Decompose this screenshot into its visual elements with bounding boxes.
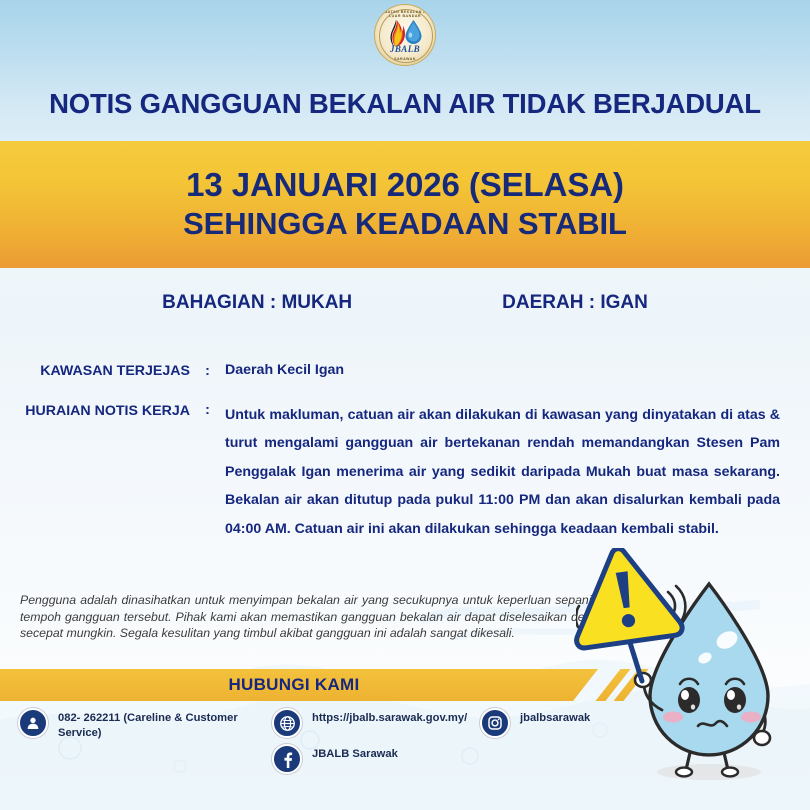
contact-website-text: https://jbalb.sarawak.gov.my/ [312, 708, 467, 726]
contact-facebook-text: JBALB Sarawak [312, 744, 398, 762]
notice-poster: JABATAN BEKALAN AIR LUAR BANDAR JBALB SA… [0, 0, 810, 810]
globe-icon [272, 708, 302, 738]
contact-phone-text: 082- 262211 (Careline & Customer Service… [58, 708, 248, 741]
disclaimer-text: Pengguna adalah dinasihatkan untuk menyi… [20, 592, 612, 642]
contact-phone[interactable]: 082- 262211 (Careline & Customer Service… [18, 708, 248, 741]
contact-banner-label: HUBUNGI KAMI [228, 675, 359, 695]
date-banner: 13 JANUARI 2026 (SELASA) SEHINGGA KEADAA… [0, 141, 810, 268]
work-notice-label: HURAIAN NOTIS KERJA [0, 401, 190, 419]
seal-arc-bottom-text: SARAWAK [375, 57, 435, 61]
instagram-icon [480, 708, 510, 738]
flame-icon [390, 20, 405, 47]
facebook-icon [272, 744, 302, 774]
facebook-glyph [279, 751, 296, 768]
work-notice-colon: : [190, 401, 225, 418]
bahagian-label: BAHAGIAN : MUKAH [162, 292, 352, 314]
seal-arc-top-text: JABATAN BEKALAN AIR LUAR BANDAR [375, 10, 435, 18]
jbalb-seal-icon: JABATAN BEKALAN AIR LUAR BANDAR JBALB SA… [374, 4, 436, 66]
contact-facebook[interactable]: JBALB Sarawak [272, 744, 398, 774]
warning-exclamation-sign [570, 548, 690, 668]
date-line-primary: 13 JANUARI 2026 (SELASA) [186, 166, 624, 205]
globe-glyph [279, 715, 296, 732]
work-notice-row: HURAIAN NOTIS KERJA : Untuk makluman, ca… [0, 401, 810, 543]
date-line-secondary: SEHINGGA KEADAAN STABIL [183, 205, 627, 244]
poster-header: JABATAN BEKALAN AIR LUAR BANDAR JBALB SA… [0, 0, 810, 141]
affected-area-label: KAWASAN TERJEJAS [0, 362, 190, 379]
daerah-label: DAERAH : IGAN [502, 292, 648, 314]
person-icon [18, 708, 48, 738]
contact-banner: HUBUNGI KAMI [0, 669, 598, 701]
contact-website[interactable]: https://jbalb.sarawak.gov.my/ [272, 708, 467, 738]
instagram-glyph [487, 715, 503, 731]
person-glyph [25, 715, 41, 731]
detail-section: KAWASAN TERJEJAS : Daerah Kecil Igan HUR… [0, 362, 810, 551]
page-title: NOTIS GANGGUAN BEKALAN AIR TIDAK BERJADU… [0, 88, 810, 120]
jbalb-logo: JABATAN BEKALAN AIR LUAR BANDAR JBALB SA… [374, 4, 436, 66]
affected-area-row: KAWASAN TERJEJAS : Daerah Kecil Igan [0, 362, 810, 379]
water-droplet-mascot [576, 548, 806, 788]
contact-instagram[interactable]: jbalbsarawak [480, 708, 590, 738]
affected-area-value: Daerah Kecil Igan [225, 362, 810, 378]
work-notice-value: Untuk makluman, catuan air akan dilakuka… [225, 401, 810, 543]
affected-area-colon: : [190, 362, 225, 379]
division-row: BAHAGIAN : MUKAH DAERAH : IGAN [0, 292, 810, 314]
water-drop-icon [404, 20, 423, 45]
seal-wordmark: JBALB [375, 44, 435, 54]
